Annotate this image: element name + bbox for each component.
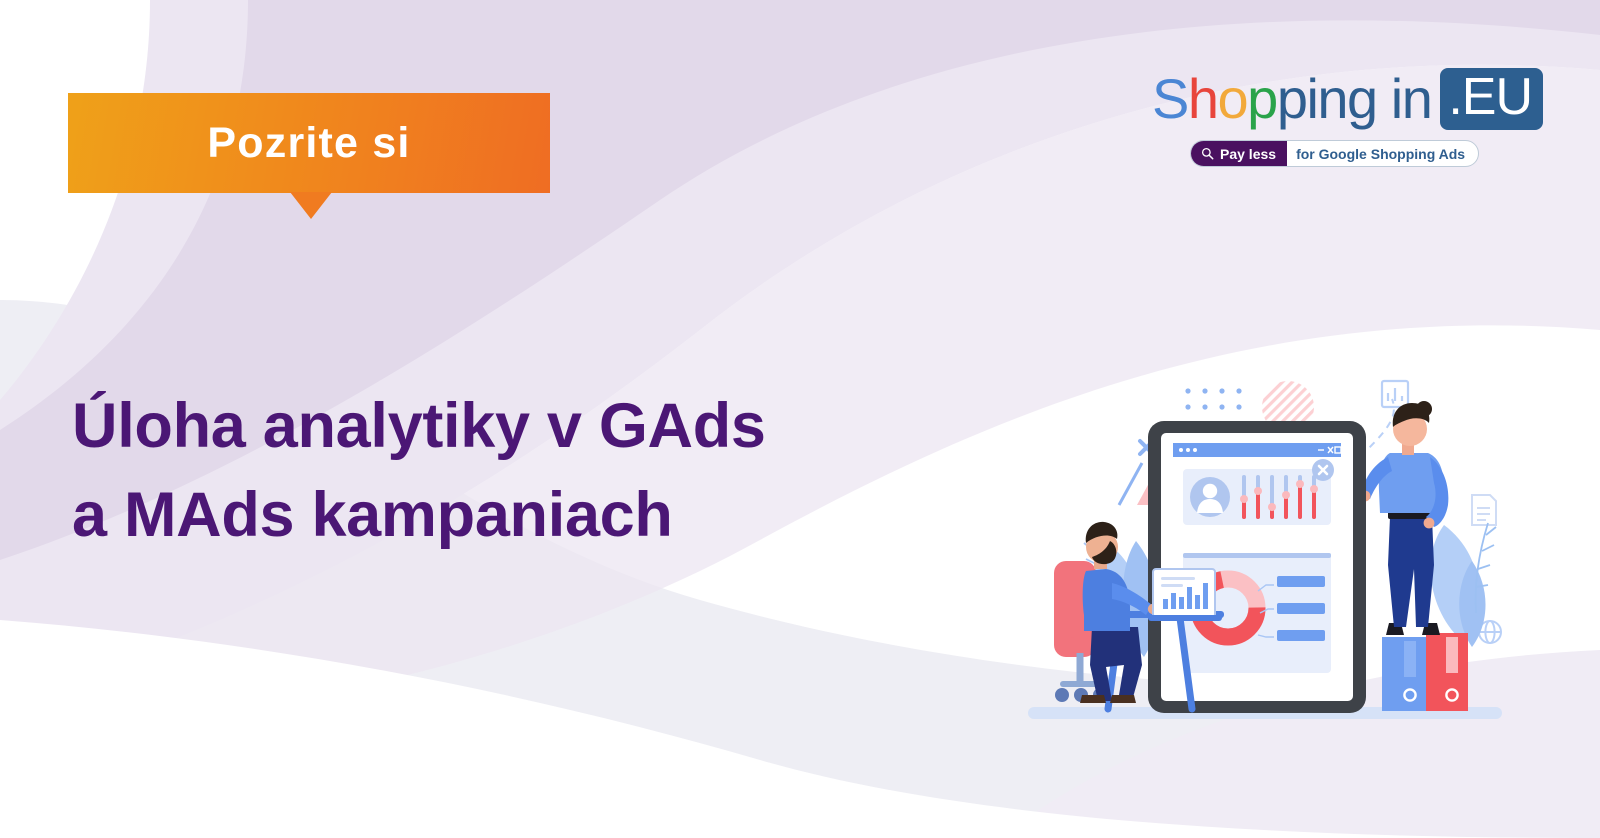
brand-logo-lockup[interactable]: Shopping in .EU Pay less for Google Shop… xyxy=(1152,68,1500,167)
ribbon-label: Pozrite si xyxy=(207,122,410,165)
person-woman xyxy=(1360,401,1449,635)
wordmark-letter-h: h xyxy=(1188,71,1218,127)
headline-line1-emphasis: analytiky xyxy=(263,391,530,461)
wordmark-letter-p: p xyxy=(1247,71,1277,127)
dot-grid-icon xyxy=(1185,388,1241,409)
browser-titlebar xyxy=(1173,443,1341,457)
wordmark-letter-s: S xyxy=(1152,71,1188,127)
legend-bars xyxy=(1277,576,1325,641)
wordmark: Shopping in .EU xyxy=(1152,68,1500,130)
ribbon-pointer-triangle xyxy=(290,192,332,219)
badge-left-segment[interactable]: Pay less xyxy=(1190,140,1287,167)
browser-dots xyxy=(1179,448,1197,452)
avatar xyxy=(1190,477,1230,517)
search-icon xyxy=(1201,147,1214,160)
banner-canvas: Pozrite si Úloha analytiky v GAds a MAds… xyxy=(0,0,1600,838)
analytics-illustration xyxy=(1020,365,1510,725)
triangle-outline xyxy=(1119,463,1142,505)
wordmark-letter-o: o xyxy=(1218,71,1248,127)
headline-line1-part3: v GAds xyxy=(530,391,766,461)
badge-right-label: for Google Shopping Ads xyxy=(1296,147,1465,161)
pay-less-badge[interactable]: Pay less for Google Shopping Ads xyxy=(1190,140,1479,167)
badge-left-label: Pay less xyxy=(1220,147,1276,161)
headline-line1-part1: Úloha xyxy=(72,391,263,461)
close-icon xyxy=(1312,459,1334,481)
headline-block: Úloha analytiky v GAds a MAds kampaniach xyxy=(72,382,972,561)
eu-chip: .EU xyxy=(1440,68,1543,130)
hair-bun xyxy=(1416,401,1432,417)
pozrite-si-ribbon[interactable]: Pozrite si xyxy=(68,93,550,193)
headline-line-2: a MAds kampaniach xyxy=(72,471,972,560)
binder-stack xyxy=(1382,633,1468,711)
laptop xyxy=(1148,569,1222,621)
wordmark-rest: ping in xyxy=(1277,71,1432,127)
document-outline-icon xyxy=(1472,495,1496,525)
headline-line-1: Úloha analytiky v GAds xyxy=(72,382,972,471)
badge-right-segment: for Google Shopping Ads xyxy=(1287,141,1478,166)
chart-outline-icon xyxy=(1382,381,1408,407)
tablet-device xyxy=(1148,421,1366,713)
